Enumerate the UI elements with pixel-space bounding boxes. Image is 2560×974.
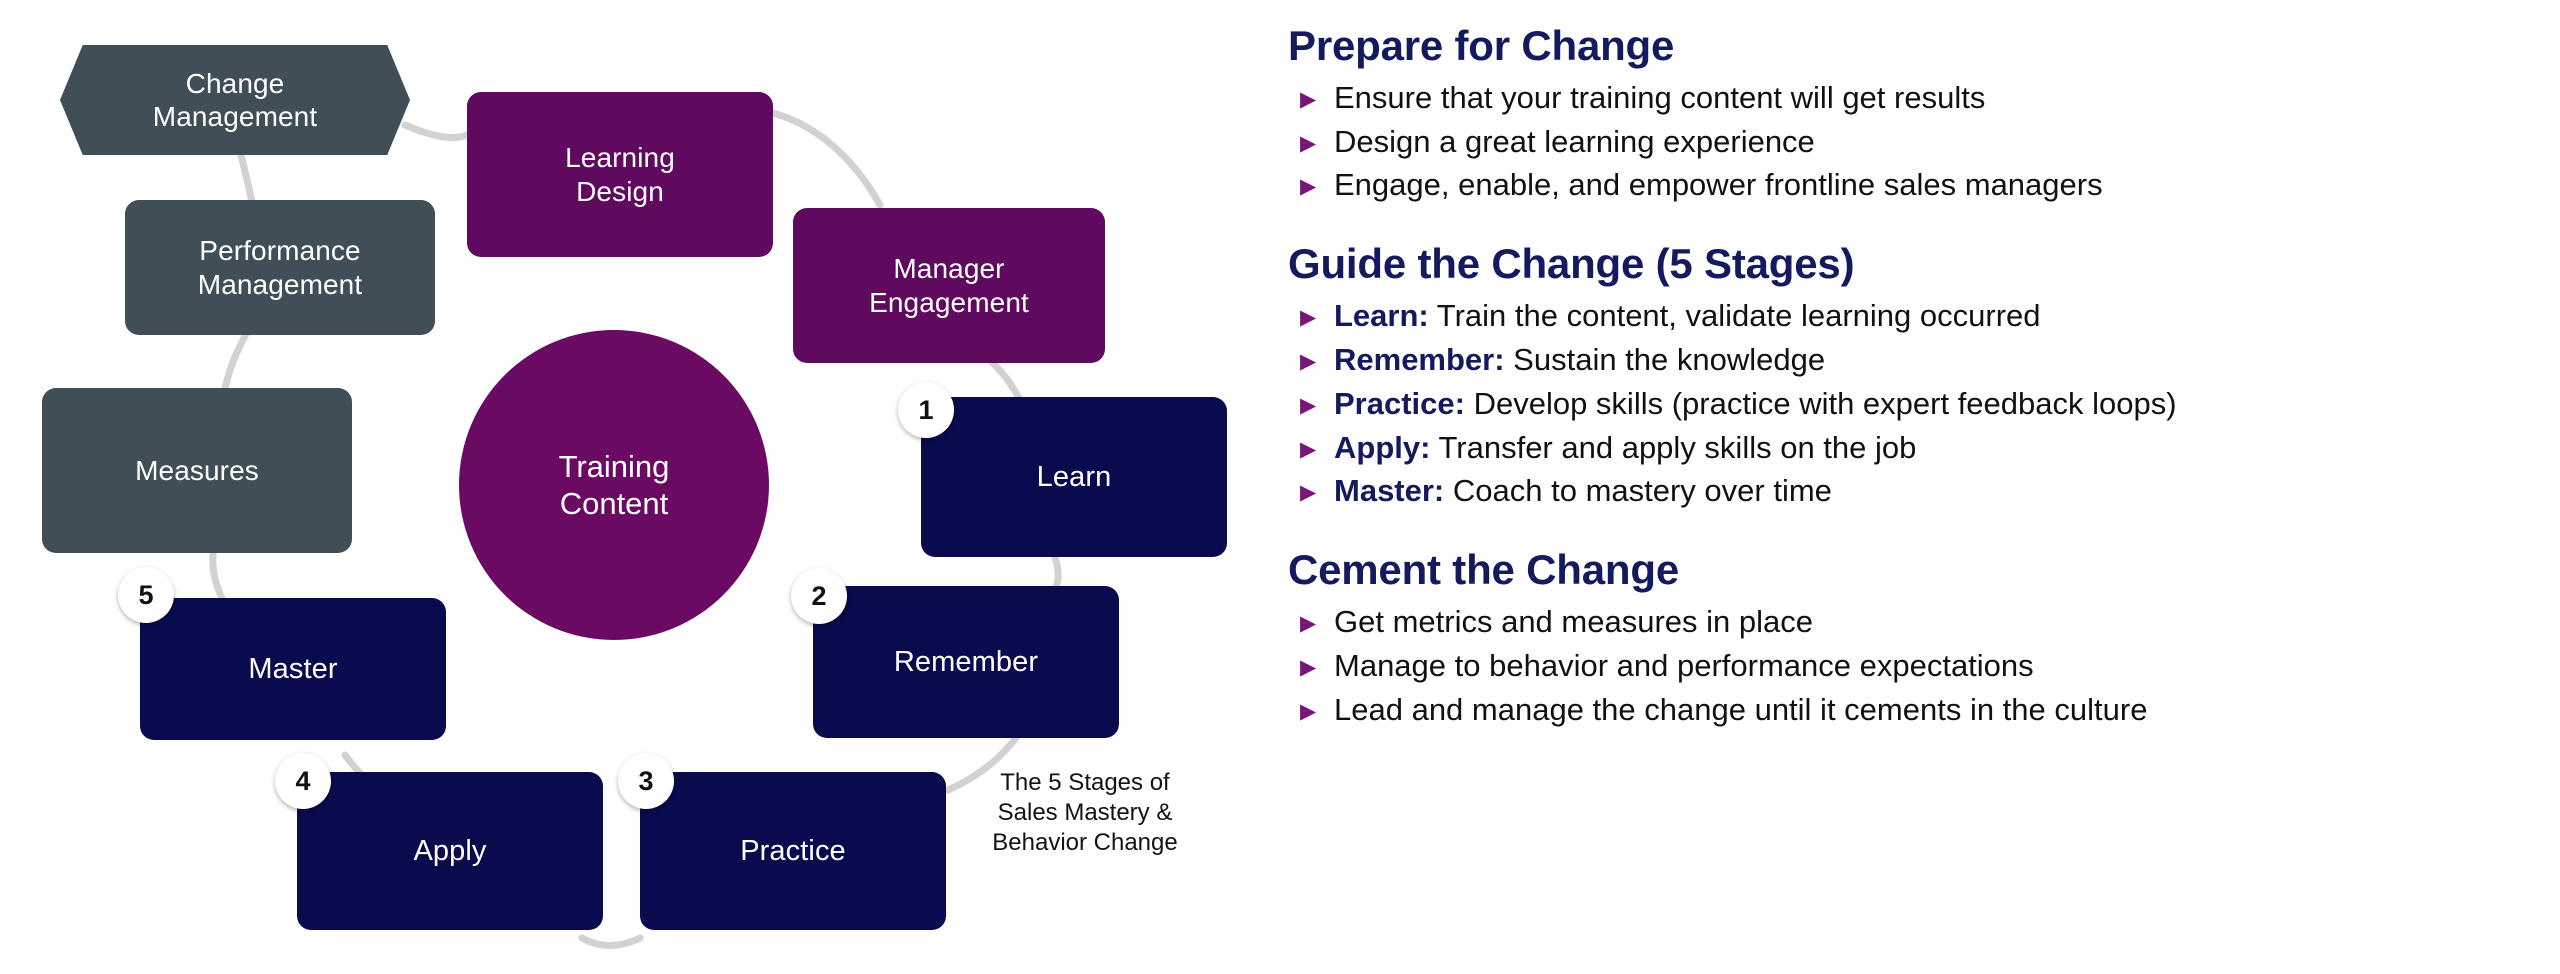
bullet-arrow-icon: ▶	[1288, 351, 1334, 372]
bullet-item: ▶ Apply: Transfer and apply skills on th…	[1288, 427, 2538, 469]
bullet-item: ▶ Design a great learning experience	[1288, 121, 2538, 163]
bullet-arrow-icon: ▶	[1288, 133, 1334, 154]
section-title-prepare-for-change: Prepare for Change	[1288, 22, 2538, 71]
bullet-body: Coach to mastery over time	[1444, 473, 1832, 508]
bullet-text: Get metrics and measures in place	[1334, 601, 2538, 643]
bullet-item: ▶ Get metrics and measures in place	[1288, 601, 2538, 643]
bullet-text: Design a great learning experience	[1334, 121, 2538, 163]
diagram-caption: The 5 Stages of Sales Mastery & Behavior…	[955, 768, 1215, 859]
bullet-item: ▶ Remember: Sustain the knowledge	[1288, 339, 2538, 381]
bullet-lead: Remember:	[1334, 342, 1505, 377]
node-stage-learn[interactable]: Learn	[921, 397, 1227, 557]
bullet-arrow-icon: ▶	[1288, 439, 1334, 460]
node-performance-management[interactable]: Performance Management	[125, 200, 435, 335]
bullet-lead: Practice:	[1334, 386, 1465, 421]
node-stage-apply[interactable]: Apply	[297, 772, 603, 930]
text-panel: Prepare for Change ▶ Ensure that your tr…	[1288, 22, 2538, 732]
node-stage-remember[interactable]: Remember	[813, 586, 1119, 738]
stage-badge-3: 3	[618, 753, 674, 809]
bullet-text: Remember: Sustain the knowledge	[1334, 339, 2538, 381]
bullet-text: Learn: Train the content, validate learn…	[1334, 295, 2538, 337]
stage-badge-2: 2	[791, 568, 847, 624]
node-measures[interactable]: Measures	[42, 388, 352, 553]
bullet-text: Manage to behavior and performance expec…	[1334, 645, 2538, 687]
bullet-item: ▶ Master: Coach to mastery over time	[1288, 470, 2538, 512]
bullet-lead: Master:	[1334, 473, 1444, 508]
bullet-body: Train the content, validate learning occ…	[1429, 298, 2041, 333]
bullet-item: ▶ Manage to behavior and performance exp…	[1288, 645, 2538, 687]
bullet-item: ▶ Ensure that your training content will…	[1288, 77, 2538, 119]
change-model-diagram: Change Management Performance Management…	[0, 0, 1270, 974]
bullet-text: Ensure that your training content will g…	[1334, 77, 2538, 119]
bullet-arrow-icon: ▶	[1288, 613, 1334, 634]
bullet-body: Transfer and apply skills on the job	[1430, 430, 1916, 465]
bullet-arrow-icon: ▶	[1288, 701, 1334, 722]
bullet-arrow-icon: ▶	[1288, 307, 1334, 328]
section-title-cement-the-change: Cement the Change	[1288, 546, 2538, 595]
bullet-item: ▶ Practice: Develop skills (practice wit…	[1288, 383, 2538, 425]
section-title-guide-the-change: Guide the Change (5 Stages)	[1288, 240, 2538, 289]
node-learning-design[interactable]: Learning Design	[467, 92, 773, 257]
stage-badge-4: 4	[275, 753, 331, 809]
bullet-text: Lead and manage the change until it ceme…	[1334, 689, 2538, 731]
center-node-training-content[interactable]: Training Content	[459, 330, 769, 640]
slide-canvas: Change Management Performance Management…	[0, 0, 2560, 974]
bullet-arrow-icon: ▶	[1288, 176, 1334, 197]
bullet-body: Sustain the knowledge	[1505, 342, 1826, 377]
bullet-body: Develop skills (practice with expert fee…	[1465, 386, 2177, 421]
node-stage-master[interactable]: Master	[140, 598, 446, 740]
bullet-lead: Apply:	[1334, 430, 1430, 465]
bullet-item: ▶ Engage, enable, and empower frontline …	[1288, 164, 2538, 206]
stage-badge-5: 5	[118, 567, 174, 623]
stage-badge-1: 1	[898, 382, 954, 438]
node-change-management[interactable]: Change Management	[60, 45, 410, 155]
bullet-arrow-icon: ▶	[1288, 482, 1334, 503]
bullet-text: Apply: Transfer and apply skills on the …	[1334, 427, 2538, 469]
node-manager-engagement[interactable]: Manager Engagement	[793, 208, 1105, 363]
node-stage-practice[interactable]: Practice	[640, 772, 946, 930]
bullet-text: Master: Coach to mastery over time	[1334, 470, 2538, 512]
bullet-item: ▶ Learn: Train the content, validate lea…	[1288, 295, 2538, 337]
bullet-text: Engage, enable, and empower frontline sa…	[1334, 164, 2538, 206]
bullet-text: Practice: Develop skills (practice with …	[1334, 383, 2538, 425]
bullet-item: ▶ Lead and manage the change until it ce…	[1288, 689, 2538, 731]
bullet-arrow-icon: ▶	[1288, 395, 1334, 416]
bullet-arrow-icon: ▶	[1288, 657, 1334, 678]
bullet-lead: Learn:	[1334, 298, 1429, 333]
bullet-arrow-icon: ▶	[1288, 89, 1334, 110]
